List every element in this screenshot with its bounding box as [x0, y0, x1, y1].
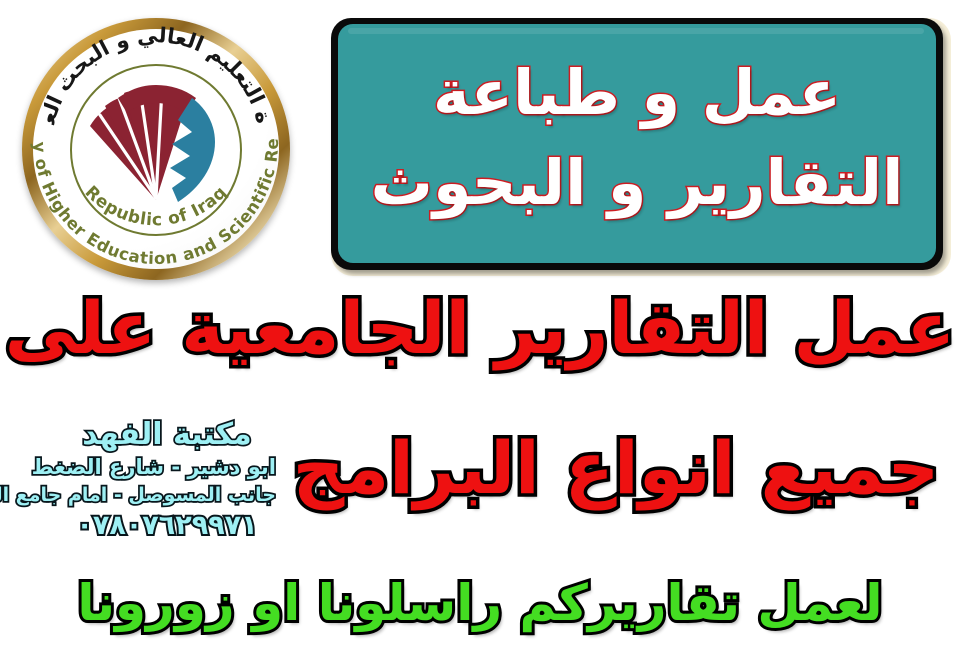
- title-banner: عمل و طباعة التقارير و البحوث: [331, 18, 951, 276]
- flyer-page: وزارة التعليم العالي و البحث العلمي: [0, 0, 960, 661]
- headline-line-2: جميع انواع البرامج: [280, 432, 952, 504]
- stamp-address-line-2: جانب المسوصل - امام جامع الكاظم: [58, 486, 276, 505]
- banner-title-line-1: عمل و طباعة: [338, 62, 936, 124]
- banner-fill: عمل و طباعة التقارير و البحوث: [338, 24, 936, 263]
- banner-title-line-2: التقارير و البحوث: [338, 152, 936, 214]
- headline-line-1: عمل التقارير الجامعية على: [0, 292, 960, 364]
- stamp-address-line-1: ابو دشير - شارع الضغط: [58, 457, 276, 478]
- shop-stamp: مكتبة الفهد ابو دشير - شارع الضغط جانب ا…: [58, 420, 276, 560]
- stamp-shop-name: مكتبة الفهد: [58, 420, 276, 450]
- stamp-phone-number: ٠٧٨٠٧٦٢٩٩٧١: [58, 512, 276, 539]
- logo-emblem-graphic: [74, 68, 238, 232]
- footer-call-to-action: لعمل تقاريركم راسلونا او زورونا: [0, 578, 960, 628]
- ministry-logo: وزارة التعليم العالي و البحث العلمي: [14, 14, 304, 286]
- banner-highlight: [348, 28, 924, 34]
